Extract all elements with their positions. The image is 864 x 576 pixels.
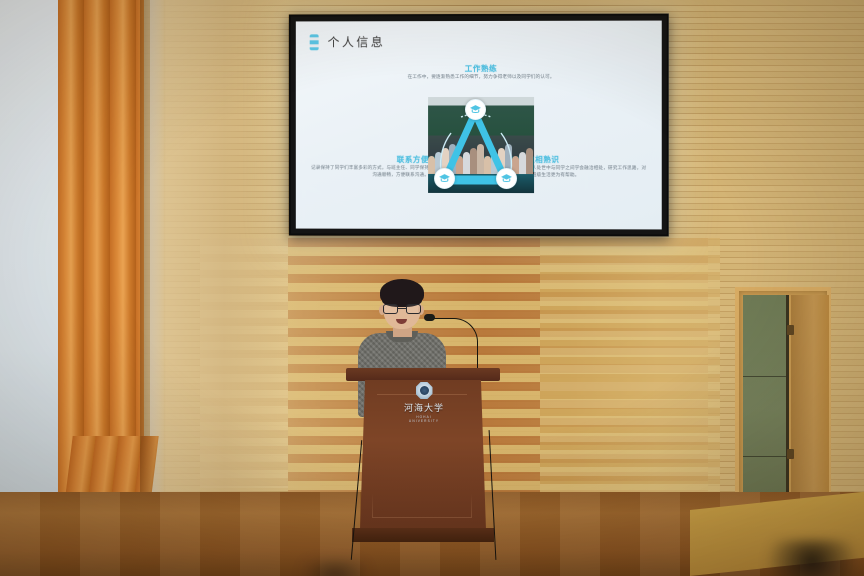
scene-vignette [0,0,864,576]
lecture-hall-scene: 个人信息 工作熟练 在工作中，要逐渐熟悉工作的细节，努力争得老师以及同学们的认可… [0,0,864,576]
foreground-silhouette-right [766,540,858,576]
foreground-silhouette-left [300,562,370,576]
